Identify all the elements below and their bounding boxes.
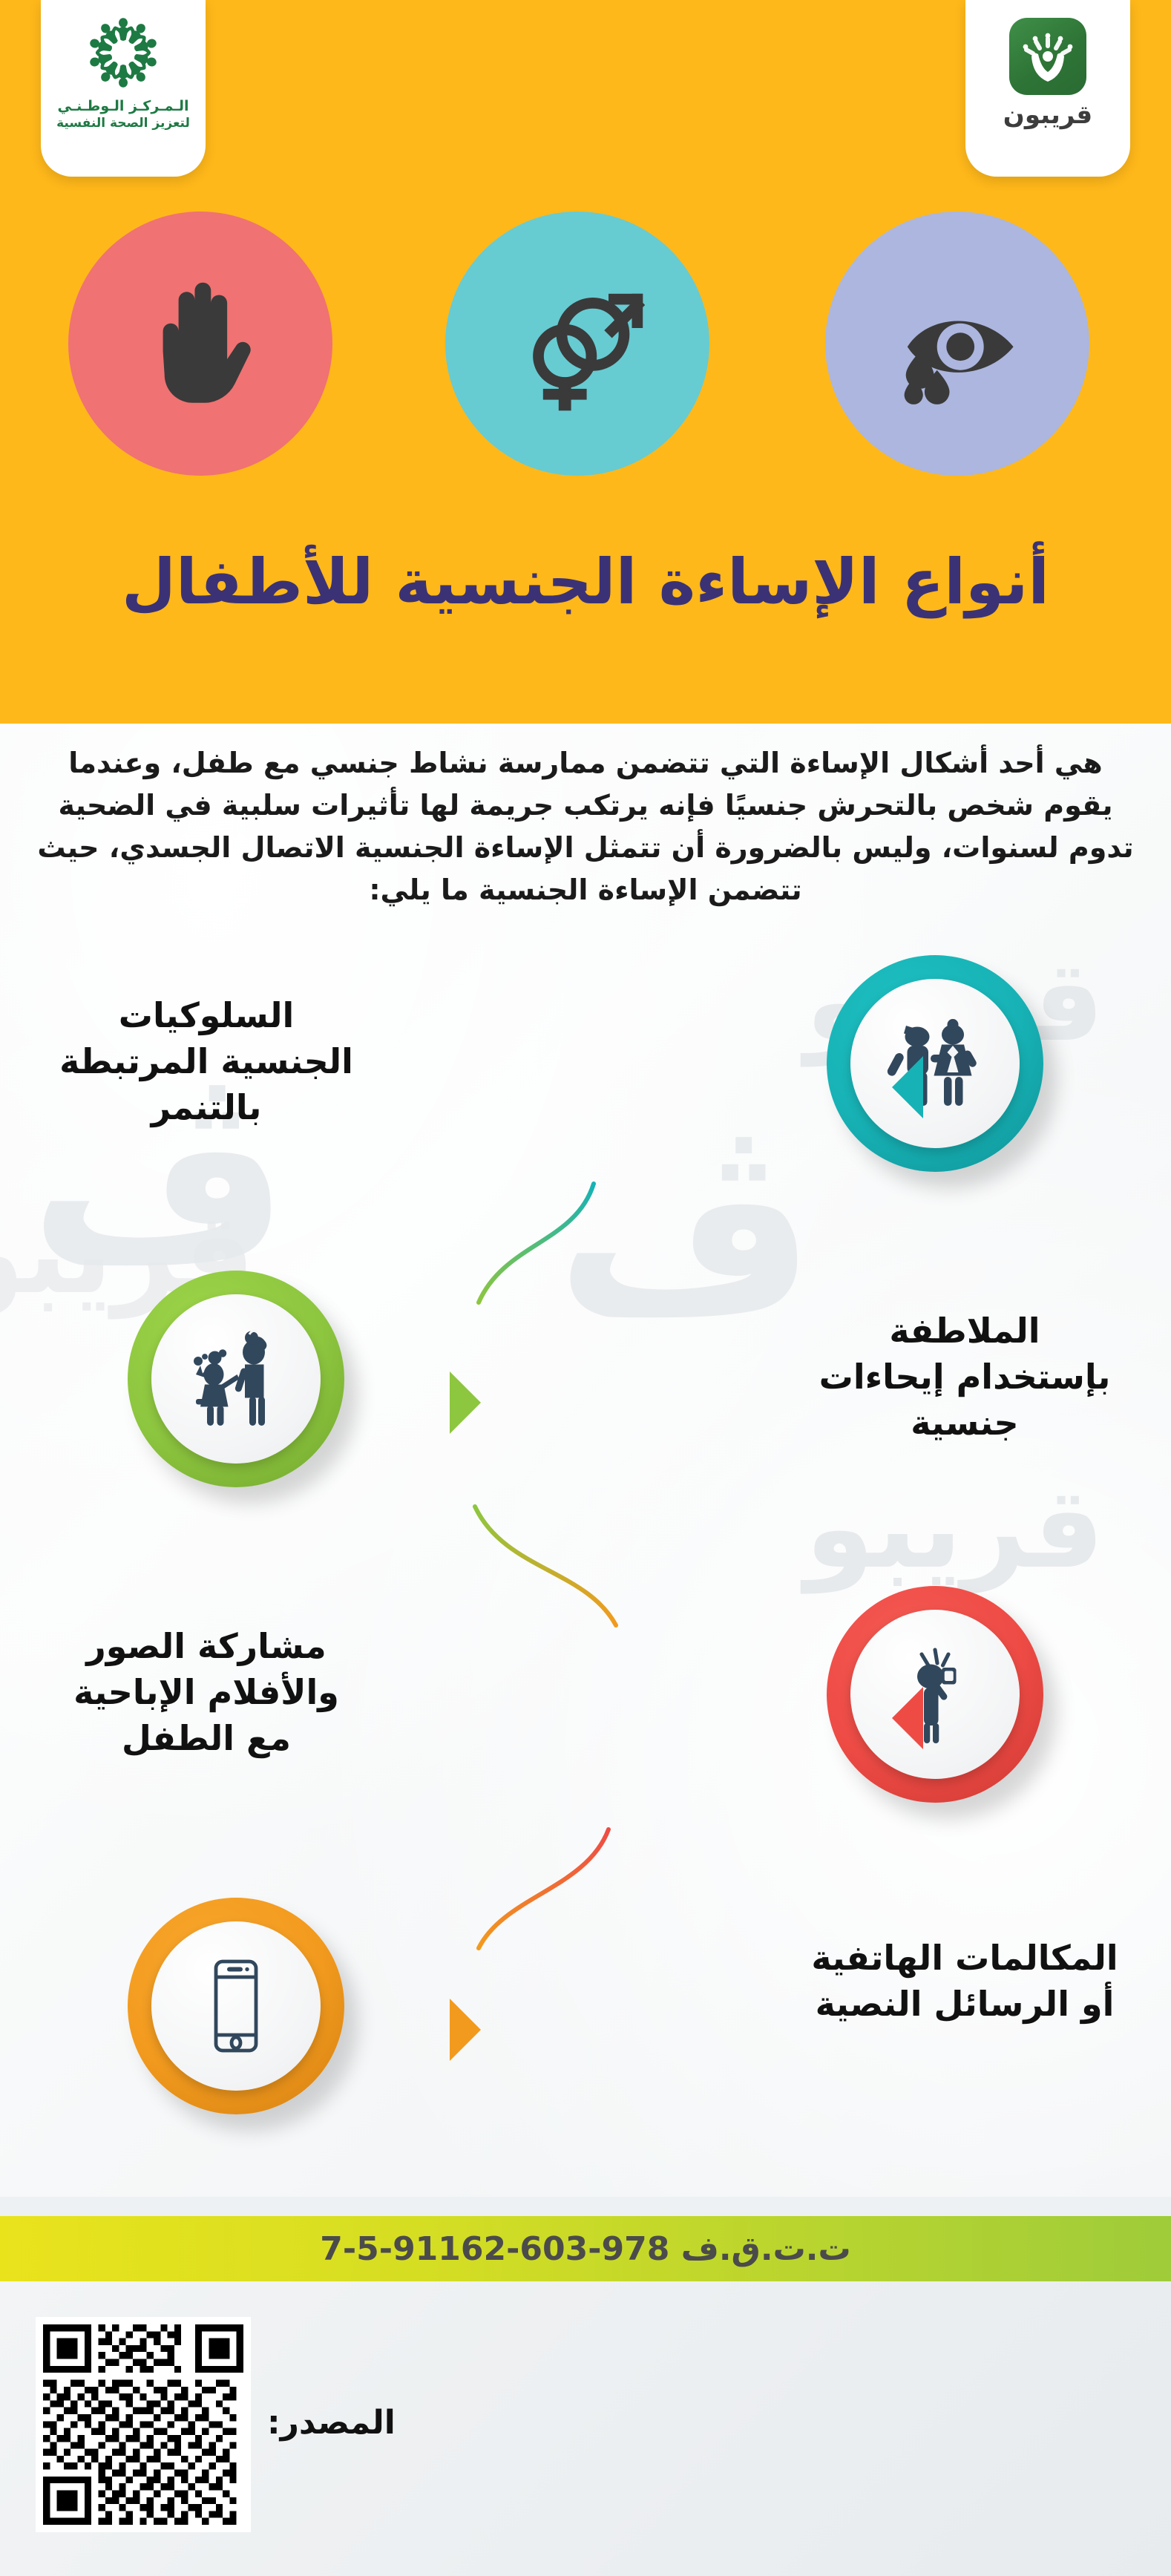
qareeboon-logo-card: قريبون [965, 0, 1130, 177]
qareeboon-label: قريبون [1003, 102, 1092, 128]
national-center-name-line1: الـمـركـز الـوطـنـي [57, 98, 188, 114]
qareeboon-app-tile-icon [1009, 18, 1086, 95]
qr-code-icon[interactable] [36, 2317, 251, 2532]
list-item: المكالمات الهاتفية أو الرسائل النصية [0, 1889, 1171, 2156]
infographic-page: الـمـركـز الـوطـنـي لتعزيز الصحة النفسية [0, 0, 1171, 2576]
adult-harassing-child-icon [151, 1294, 321, 1464]
badge-pointer [892, 1687, 923, 1749]
isbn-bar: ت.ت.ق.ف 978-603-91162-5-7 [0, 2216, 1171, 2281]
list-item: السلوكيات الجنسية المرتبطة بالتنمر [0, 946, 1171, 1213]
page-title: أنواع الإساءة الجنسية للأطفال [0, 545, 1171, 618]
list-item: مشاركة الصور والأفلام الإباحية مع الطفل [0, 1577, 1171, 1844]
hero-icon-row [0, 212, 1171, 479]
badge-pointer [892, 1056, 923, 1118]
national-center-name-line2: لتعزيز الصحة النفسية [56, 116, 190, 131]
national-center-starburst-logo-icon [82, 12, 164, 94]
item-badge[interactable] [110, 1889, 362, 2141]
item-badge[interactable] [809, 1577, 1061, 1829]
item-label: المكالمات الهاتفية أو الرسائل النصية [809, 1935, 1121, 2027]
footer: المصدر: [0, 2281, 1171, 2576]
badge-pointer [450, 1999, 481, 2061]
two-students-bullying-icon [850, 979, 1020, 1148]
item-label: مشاركة الصور والأفلام الإباحية مع الطفل [50, 1623, 362, 1761]
intro-paragraph: هي أحد أشكال الإساءة التي تتضمن ممارسة ن… [37, 742, 1134, 911]
item-badge[interactable] [110, 1262, 362, 1514]
badge-pointer [450, 1371, 481, 1434]
stop-hand-icon [68, 212, 332, 476]
item-label: السلوكيات الجنسية المرتبطة بالتنمر [50, 992, 362, 1130]
list-item: الملاطفة بإستخدام إيحاءات جنسية [0, 1262, 1171, 1529]
header-banner: الـمـركـز الـوطـنـي لتعزيز الصحة النفسية [0, 0, 1171, 724]
person-holding-phone-photo-icon [850, 1610, 1020, 1779]
item-badge[interactable] [809, 946, 1061, 1199]
gender-symbols-icon [445, 212, 709, 476]
isbn-text: ت.ت.ق.ف 978-603-91162-5-7 [320, 2230, 850, 2268]
source-label: المصدر: [267, 2404, 396, 2442]
crying-eye-icon [825, 212, 1089, 476]
item-label: الملاطفة بإستخدام إيحاءات جنسية [809, 1308, 1121, 1446]
national-center-logo-card: الـمـركـز الـوطـنـي لتعزيز الصحة النفسية [41, 0, 206, 177]
smartphone-icon [151, 1921, 321, 2091]
